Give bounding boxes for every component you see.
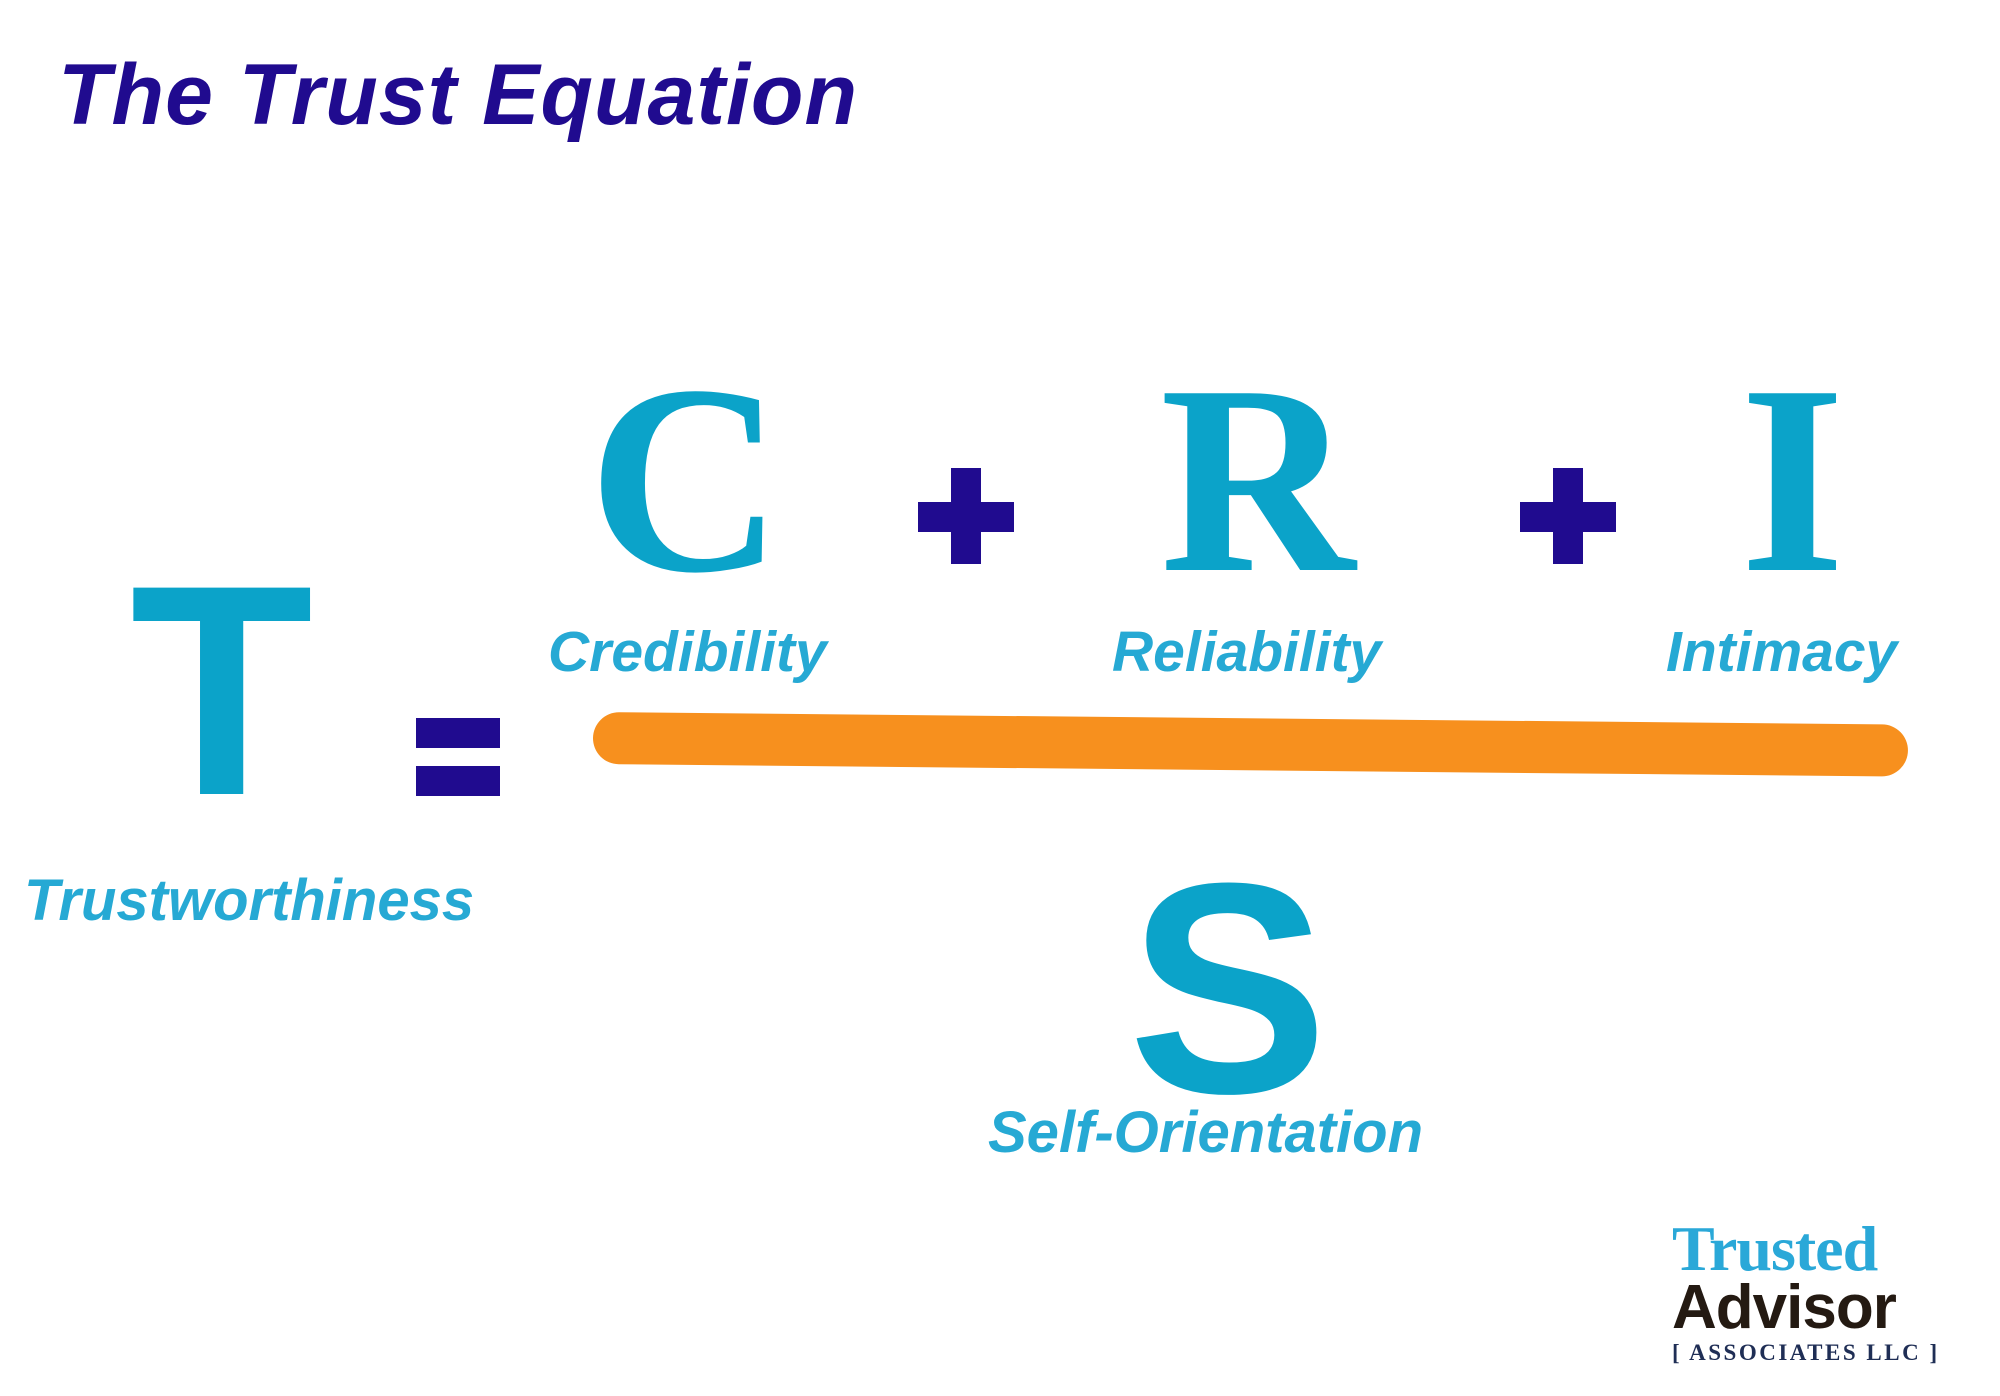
label-self-orientation: Self-Orientation	[988, 1104, 1423, 1162]
equals-bar-bottom	[416, 766, 500, 796]
equals-bar-top	[416, 718, 500, 748]
label-trustworthiness: Trustworthiness	[24, 872, 474, 930]
plus-sign-icon-1	[918, 468, 1014, 564]
equation-symbol-self-orientation: S	[1128, 838, 1328, 1138]
trusted-advisor-logo: Trusted Advisor [ ASSOCIATES LLC ]	[1672, 1218, 1952, 1364]
equation-symbol-intimacy: I	[1740, 345, 1845, 615]
slide-canvas: The Trust Equation T Trustworthiness C R…	[0, 0, 2000, 1396]
label-credibility: Credibility	[548, 624, 827, 681]
logo-line-advisor: Advisor	[1672, 1277, 1952, 1339]
plus-vertical-bar	[1553, 468, 1583, 564]
orange-fraction-bar	[593, 712, 1908, 777]
page-title: The Trust Equation	[58, 52, 858, 138]
plus-sign-icon-2	[1520, 468, 1616, 564]
logo-line-associates: [ ASSOCIATES LLC ]	[1672, 1341, 1952, 1364]
label-intimacy: Intimacy	[1666, 624, 1897, 681]
logo-line-trusted: Trusted	[1672, 1218, 1952, 1281]
equation-symbol-trust: T	[130, 540, 307, 840]
plus-vertical-bar	[951, 468, 981, 564]
equals-sign	[416, 718, 500, 796]
label-reliability: Reliability	[1112, 624, 1381, 681]
equation-symbol-reliability: R	[1160, 345, 1355, 615]
equation-symbol-credibility: C	[588, 345, 783, 615]
